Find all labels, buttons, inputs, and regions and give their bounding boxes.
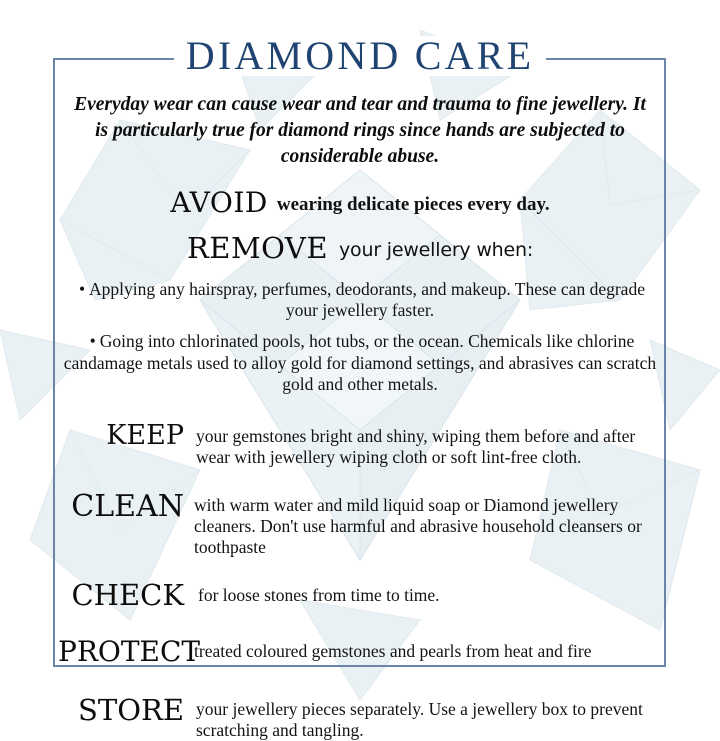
page-title: DIAMOND CARE: [174, 36, 546, 76]
protect-text: treated coloured gemstones and pearls fr…: [184, 636, 662, 662]
keep-label: KEEP: [58, 421, 184, 449]
clean-text: with warm water and mild liquid soap or …: [184, 490, 662, 558]
clean-label: CLEAN: [58, 490, 184, 522]
avoid-text: wearing delicate pieces every day.: [277, 194, 550, 215]
bullet-text: Applying any hairspray, perfumes, deodor…: [89, 279, 645, 320]
list-item: •Going into chlorinated pools, hot tubs,…: [58, 331, 662, 395]
avoid-line: AVOIDwearing delicate pieces every day.: [58, 186, 662, 219]
avoid-label: AVOID: [170, 186, 268, 219]
store-label: STORE: [58, 694, 184, 725]
care-row-clean: CLEAN with warm water and mild liquid so…: [58, 490, 662, 558]
title-rule-gap: [171, 14, 549, 30]
care-row-check: CHECK for loose stones from time to time…: [58, 580, 662, 610]
care-row-store: STORE your jewellery pieces separately. …: [58, 694, 662, 741]
care-row-protect: PROTECT treated coloured gemstones and p…: [58, 636, 662, 666]
protect-label: PROTECT: [58, 636, 184, 666]
check-text: for loose stones from time to time.: [184, 580, 662, 606]
title-container: DIAMOND CARE: [0, 36, 720, 76]
bullet-icon: •: [75, 279, 89, 300]
content-column: Everyday wear can cause wear and tear an…: [58, 92, 662, 741]
keep-text: your gemstones bright and shiny, wiping …: [184, 421, 662, 468]
check-label: CHECK: [58, 580, 184, 610]
remove-label: REMOVE: [187, 231, 328, 265]
care-row-keep: KEEP your gemstones bright and shiny, wi…: [58, 421, 662, 468]
bullet-icon: •: [86, 331, 100, 352]
intro-paragraph: Everyday wear can cause wear and tear an…: [68, 92, 652, 170]
remove-line: REMOVEyour jewellery when:: [58, 231, 662, 265]
list-item: •Applying any hairspray, perfumes, deodo…: [58, 279, 662, 322]
remove-text: your jewellery when:: [339, 239, 533, 261]
store-text: your jewellery pieces separately. Use a …: [184, 694, 662, 741]
bullet-text: Going into chlorinated pools, hot tubs, …: [64, 331, 656, 394]
